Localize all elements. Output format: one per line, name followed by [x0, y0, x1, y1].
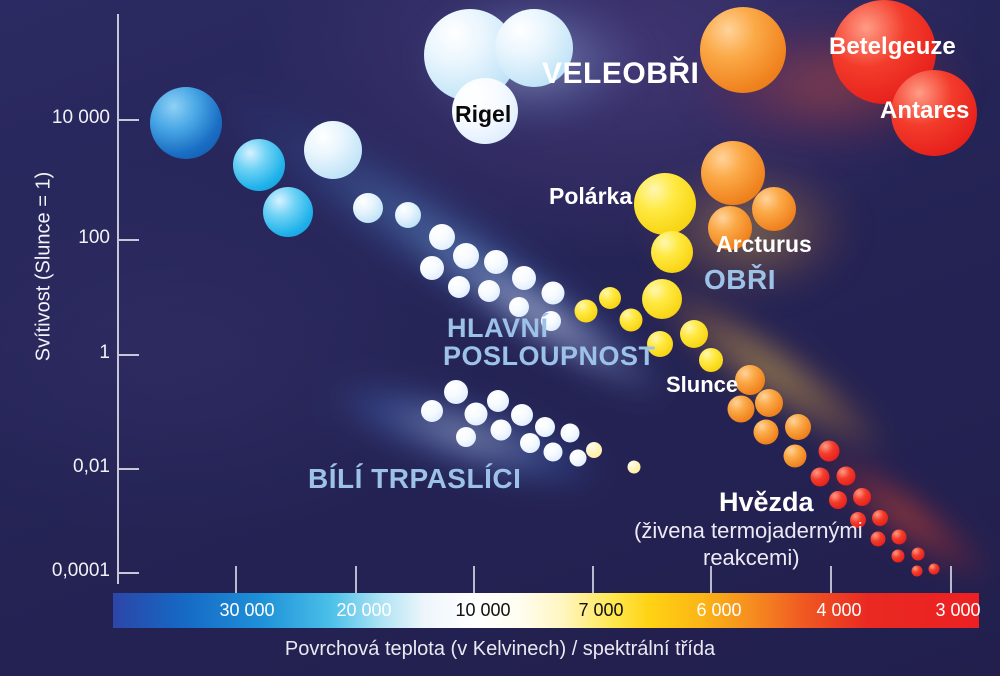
star-point	[680, 320, 708, 348]
annotation-star-subtitle-line1: (živena termojadernými	[634, 518, 863, 544]
star-point	[575, 300, 598, 323]
star-point	[353, 193, 383, 223]
star-point	[491, 420, 512, 441]
star-point	[642, 279, 682, 319]
star-point-polarka	[634, 173, 696, 235]
star-point	[829, 491, 847, 509]
star-point	[912, 566, 923, 577]
x-tick-mark	[473, 566, 475, 593]
star-point	[456, 427, 476, 447]
y-axis-line	[117, 14, 119, 584]
star-point	[544, 443, 563, 462]
y-tick-mark	[117, 239, 139, 241]
region-label-white-dwarfs: BÍLÍ TRPASLÍCI	[308, 463, 521, 495]
star-label-polarka: Polárka	[549, 183, 632, 210]
star-point	[620, 309, 643, 332]
star-label-slunce: Slunce	[666, 372, 738, 398]
x-tick-label: 20 000	[336, 600, 391, 621]
star-point	[892, 530, 907, 545]
x-tick-label: 6 000	[696, 600, 741, 621]
region-label-main-sequence-line2: POSLOUPNOST	[443, 341, 656, 372]
x-tick-mark	[710, 566, 712, 593]
star-label-antares: Antares	[880, 97, 969, 125]
x-tick-mark	[235, 566, 237, 593]
region-label-main-sequence-line1: HLAVNÍ	[447, 313, 549, 344]
star-label-rigel: Rigel	[455, 101, 511, 128]
star-point-arcturus	[752, 187, 796, 231]
x-tick-mark	[592, 566, 594, 593]
y-tick-mark	[117, 354, 139, 356]
star-point	[728, 396, 755, 423]
star-point	[853, 488, 871, 506]
x-tick-label: 10 000	[455, 600, 510, 621]
y-tick-label: 100	[0, 227, 110, 249]
x-axis-title: Povrchová teplota (v Kelvinech) / spektr…	[0, 638, 1000, 661]
star-point	[872, 510, 888, 526]
region-label-supergiants: VELEOBŘI	[542, 57, 699, 91]
star-point	[448, 276, 470, 298]
y-tick-label: 0,0001	[0, 560, 110, 582]
star-point	[700, 7, 786, 93]
star-point	[478, 280, 500, 302]
star-point	[444, 380, 468, 404]
star-point	[811, 468, 830, 487]
annotation-star-subtitle-line2: reakcemi)	[703, 545, 800, 571]
star-point	[892, 550, 905, 563]
star-point	[429, 224, 455, 250]
x-tick-mark	[950, 566, 952, 593]
star-point	[263, 187, 313, 237]
x-tick-mark	[830, 566, 832, 593]
star-point	[819, 441, 840, 462]
star-point	[150, 87, 222, 159]
star-point	[929, 564, 940, 575]
y-tick-label: 10 000	[0, 107, 110, 129]
hr-diagram: Svítivost (Slunce = 1) 10 000 100 1 0,01…	[0, 0, 1000, 676]
star-point	[871, 532, 886, 547]
star-point	[395, 202, 421, 228]
star-point	[699, 348, 723, 372]
y-tick-mark	[117, 119, 139, 121]
star-point	[561, 424, 580, 443]
star-point	[421, 400, 443, 422]
y-tick-label: 1	[0, 342, 110, 364]
x-tick-label: 4 000	[816, 600, 861, 621]
star-point	[512, 266, 536, 290]
star-point	[599, 287, 621, 309]
x-tick-label: 30 000	[219, 600, 274, 621]
star-point	[465, 403, 488, 426]
star-point	[233, 139, 285, 191]
star-point	[784, 445, 807, 468]
star-point	[570, 450, 587, 467]
x-tick-label: 3 000	[935, 600, 980, 621]
star-label-betelgeuze: Betelgeuze	[829, 33, 956, 61]
star-point	[511, 404, 533, 426]
star-point	[755, 389, 783, 417]
region-label-giants: OBŘI	[704, 264, 776, 296]
star-point	[837, 467, 856, 486]
star-point	[628, 461, 641, 474]
star-point	[542, 282, 565, 305]
star-point	[785, 414, 811, 440]
star-point	[453, 243, 479, 269]
y-tick-mark	[117, 572, 139, 574]
star-point	[651, 231, 693, 273]
star-point	[754, 420, 779, 445]
y-tick-label: 0,01	[0, 456, 110, 478]
star-point	[420, 256, 444, 280]
star-point	[520, 433, 540, 453]
y-tick-mark	[117, 468, 139, 470]
y-axis-title: Svítivost (Slunce = 1)	[33, 127, 56, 407]
x-tick-mark	[355, 566, 357, 593]
star-point	[535, 417, 555, 437]
star-point	[586, 442, 602, 458]
star-point	[484, 250, 508, 274]
star-point	[487, 390, 509, 412]
annotation-star-title: Hvězda	[719, 487, 814, 518]
star-label-arcturus: Arcturus	[716, 231, 812, 258]
star-point	[912, 548, 925, 561]
x-tick-label: 7 000	[578, 600, 623, 621]
star-point	[304, 121, 362, 179]
